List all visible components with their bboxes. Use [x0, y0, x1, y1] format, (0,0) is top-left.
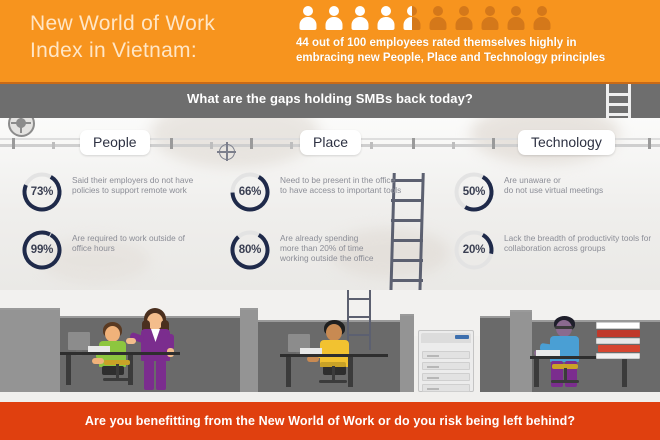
- stat-percent: 73%: [20, 170, 64, 214]
- column-label-technology: Technology: [518, 130, 615, 155]
- stat-percent: 50%: [452, 170, 496, 214]
- person-icon: [478, 6, 501, 32]
- monitor-icon: [68, 332, 90, 350]
- copier-icon: [418, 330, 474, 392]
- book-stack-icon: [596, 322, 642, 358]
- footer-text: Are you benefitting from the New World o…: [0, 414, 660, 428]
- seated-worker-yellow: [318, 320, 352, 378]
- question-band: What are the gaps holding SMBs back toda…: [0, 82, 660, 118]
- header-stat-text: 44 out of 100 employees rated themselves…: [296, 36, 648, 65]
- office-illustration: [0, 290, 660, 402]
- person-icon: [296, 6, 319, 32]
- band-divider: [0, 82, 660, 84]
- stat-donut: 20%: [452, 228, 496, 272]
- pulley-wheel-icon: [8, 118, 35, 137]
- rail-tick-minor: [52, 142, 55, 149]
- stats-area: People Place Technology 73%Said their em…: [0, 118, 660, 290]
- stat-donut: 50%: [452, 170, 496, 214]
- chair-base: [319, 380, 347, 383]
- stat-description: Said their employers do not have policie…: [72, 175, 193, 195]
- rail-tick: [648, 138, 651, 149]
- rail-tick: [170, 138, 173, 149]
- desk-icon: [280, 354, 388, 357]
- person-icon: [426, 6, 449, 32]
- desk-leg: [534, 359, 539, 387]
- stat-column-people: 73%Said their employers do not have poli…: [20, 170, 220, 286]
- stat-item: 50%Are unaware or do not use virtual mee…: [452, 170, 657, 218]
- stat-item: 99%Are required to work outside of offic…: [20, 228, 220, 276]
- keyboard-icon: [300, 348, 322, 354]
- cubicle-wall: [510, 310, 532, 392]
- person-icon-row: [296, 4, 648, 32]
- stat-percent: 99%: [20, 228, 64, 272]
- stat-donut: 80%: [228, 228, 272, 272]
- footer-banner: Are you benefitting from the New World o…: [0, 402, 660, 440]
- infographic-root: New World of Work Index in Vietnam: 44 o…: [0, 0, 660, 440]
- column-label-people: People: [80, 130, 150, 155]
- person-icon: [374, 6, 397, 32]
- stat-percent: 80%: [228, 228, 272, 272]
- stat-donut: 73%: [20, 170, 64, 214]
- chair-post: [564, 368, 567, 380]
- rail-tick-minor: [370, 142, 373, 149]
- desk-leg: [286, 357, 291, 387]
- header: New World of Work Index in Vietnam: 44 o…: [0, 0, 660, 82]
- stat-description: Are required to work outside of office h…: [72, 233, 185, 253]
- page-title: New World of Work Index in Vietnam:: [30, 10, 215, 64]
- rail-tick: [250, 138, 253, 149]
- desk-leg: [622, 359, 627, 387]
- stat-item: 66%Need to be present in the office to h…: [228, 170, 428, 218]
- rail-tick-minor: [290, 142, 293, 149]
- stat-percent: 66%: [228, 170, 272, 214]
- stat-description: Are unaware or do not use virtual meetin…: [504, 175, 603, 195]
- person-icon: [400, 6, 423, 32]
- stat-description: Lack the breadth of productivity tools f…: [504, 233, 651, 253]
- chair-base: [103, 378, 131, 381]
- stat-donut: 99%: [20, 228, 64, 272]
- rail-tick-minor: [210, 142, 213, 149]
- person-icon: [530, 6, 553, 32]
- stat-description: Are already spending more than 20% of ti…: [280, 233, 373, 264]
- desk-icon: [60, 352, 180, 355]
- chair-post: [332, 366, 335, 380]
- cubicle-wall: [0, 308, 60, 392]
- person-icon: [348, 6, 371, 32]
- stat-column-place: 66%Need to be present in the office to h…: [228, 170, 428, 286]
- rail-tick: [412, 138, 415, 149]
- person-icon: [452, 6, 475, 32]
- person-icon: [504, 6, 527, 32]
- stat-percent: 20%: [452, 228, 496, 272]
- chair-post: [116, 364, 119, 378]
- header-stat-block: 44 out of 100 employees rated themselves…: [296, 4, 648, 65]
- person-icon: [322, 6, 345, 32]
- stat-column-technology: 50%Are unaware or do not use virtual mee…: [452, 170, 657, 286]
- column-label-place: Place: [300, 130, 361, 155]
- stat-item: 73%Said their employers do not have poli…: [20, 170, 220, 218]
- chair-base: [551, 380, 579, 383]
- bg-smudge: [150, 118, 320, 168]
- cubicle-wall: [480, 316, 510, 392]
- band-question: What are the gaps holding SMBs back toda…: [0, 91, 660, 106]
- crosshair-icon: [219, 144, 235, 160]
- stat-item: 80%Are already spending more than 20% of…: [228, 228, 428, 276]
- rail-tick-minor: [452, 142, 455, 149]
- stat-donut: 66%: [228, 170, 272, 214]
- rail-tick: [492, 138, 495, 149]
- cubicle-wall: [240, 308, 258, 392]
- ladder-icon: [602, 84, 636, 118]
- stat-description: Need to be present in the office to have…: [280, 175, 401, 195]
- glasses-icon: [555, 326, 573, 329]
- keyboard-icon: [88, 346, 110, 352]
- desk-leg: [66, 355, 71, 385]
- keyboard-icon: [536, 350, 560, 356]
- cubicle-wall: [400, 314, 414, 392]
- standing-worker-purple: [138, 308, 174, 388]
- stat-item: 20%Lack the breadth of productivity tool…: [452, 228, 657, 276]
- rail-tick: [12, 138, 15, 149]
- desk-leg: [348, 357, 353, 387]
